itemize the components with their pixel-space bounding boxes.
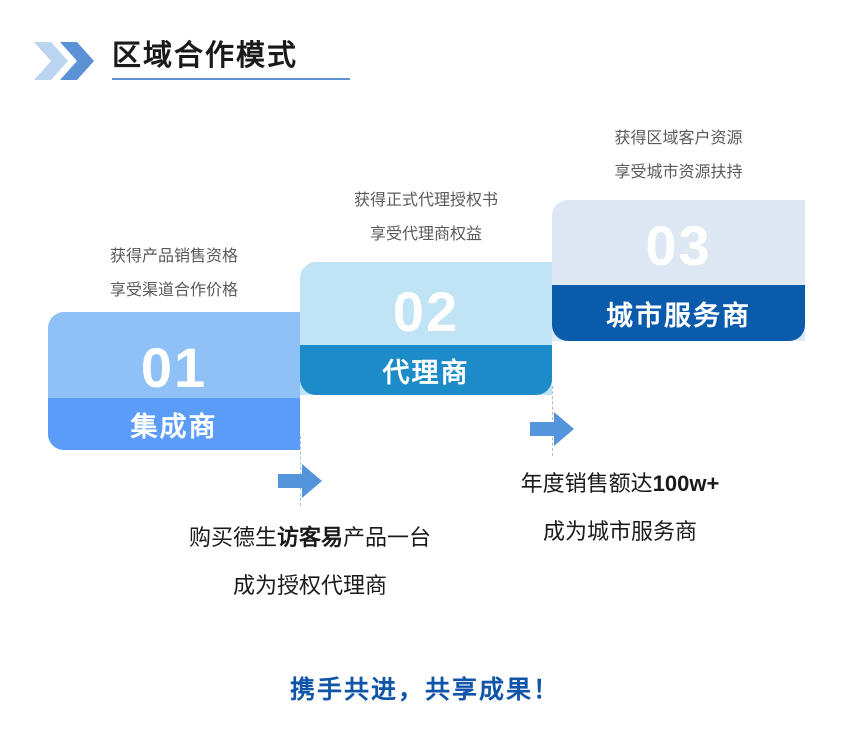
requirement-line-2: 成为城市服务商 xyxy=(440,508,800,556)
requirement-line-1: 年度销售额达100w+ xyxy=(440,460,800,508)
step-card-01[interactable]: 01 集成商 xyxy=(48,312,300,450)
step-label-bar-01: 集成商 xyxy=(48,398,300,450)
step-card-03[interactable]: 03 城市服务商 xyxy=(552,200,805,341)
footer-slogan-text: 携手共进，共享成果！ xyxy=(290,676,560,704)
staircase-cards: 01 集成商 02 代理商 03 城市服务商 xyxy=(0,0,850,737)
requirement-suffix: 产品一台 xyxy=(343,525,431,550)
step-card-02[interactable]: 02 代理商 xyxy=(300,262,552,395)
arrow-right-icon xyxy=(278,464,322,498)
requirement-highlight: 访客易 xyxy=(277,525,343,550)
requirement-highlight: 100w+ xyxy=(653,471,720,496)
requirement-prefix: 购买德生 xyxy=(189,525,277,550)
step-label-02: 代理商 xyxy=(383,351,470,390)
step-label-03: 城市服务商 xyxy=(606,294,751,333)
step-number-03: 03 xyxy=(645,218,711,274)
step-number-01: 01 xyxy=(141,340,207,396)
requirement-text-2: 年度销售额达100w+ 成为城市服务商 xyxy=(440,460,800,556)
requirement-line-1: 购买德生访客易产品一台 xyxy=(130,514,490,562)
step-label-01: 集成商 xyxy=(131,405,218,444)
footer-slogan: 携手共进，共享成果！ xyxy=(0,670,850,706)
requirement-prefix: 年度销售额达 xyxy=(521,471,653,496)
requirement-line-2: 成为授权代理商 xyxy=(130,562,490,610)
region-cooperation-infographic: 区域合作模式 获得产品销售资格 享受渠道合作价格 获得正式代理授权书 享受代理商… xyxy=(0,0,850,737)
arrow-right-icon xyxy=(530,412,574,446)
step-label-bar-02: 代理商 xyxy=(300,345,552,395)
step-number-02: 02 xyxy=(393,284,459,340)
step-label-bar-03: 城市服务商 xyxy=(552,285,805,341)
requirement-text-1: 购买德生访客易产品一台 成为授权代理商 xyxy=(130,514,490,610)
